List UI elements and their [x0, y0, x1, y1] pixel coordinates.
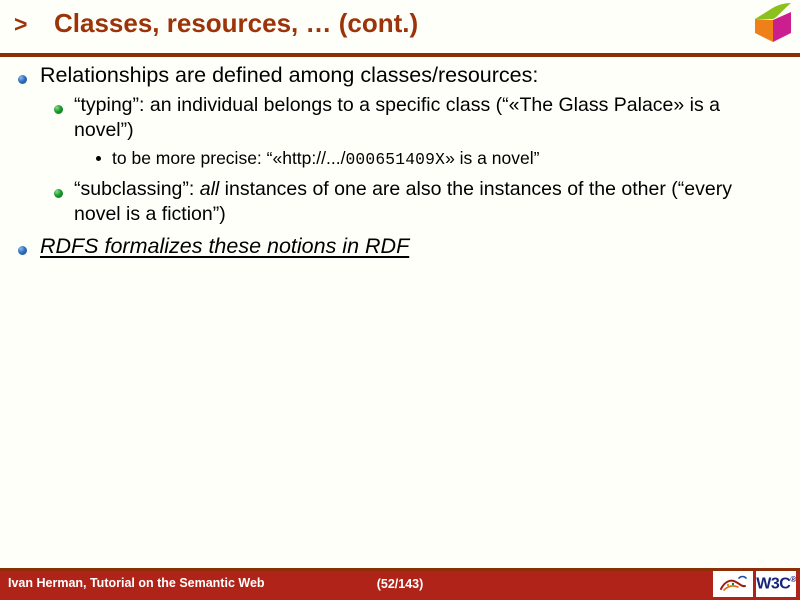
bullet-level1-rdfs: RDFS formalizes these notions in RDF [18, 233, 800, 259]
blue-sphere-bullet-icon [18, 71, 40, 89]
bullet-text: Relationships are defined among classes/… [40, 62, 800, 88]
uri-identifier-mono: 000651409X [345, 150, 445, 169]
w3c-logo-text: W3C [756, 575, 790, 592]
uri-prefix-text: to be more precise: “«http://.../ [112, 148, 345, 168]
header-divider [0, 53, 800, 57]
black-dot-bullet-icon [96, 148, 112, 166]
rdfs-emphasis-text: RDFS formalizes these notions in RDF [40, 234, 409, 258]
cube-left-face [755, 19, 773, 42]
slide-footer: Ivan Herman, Tutorial on the Semantic We… [0, 568, 800, 600]
bullet-text: “typing”: an individual belongs to a spe… [74, 93, 764, 143]
green-sphere-bullet-icon [54, 101, 74, 119]
w3c-logo: W3C® [756, 571, 796, 597]
page-title: Classes, resources, … (cont.) [54, 8, 418, 39]
bullet-level2-typing: “typing”: an individual belongs to a spe… [54, 93, 800, 143]
title-chevron-icon: > [14, 13, 27, 36]
slide-header: > Classes, resources, … (cont.) [0, 0, 800, 54]
uri-suffix-text: » is a novel” [445, 148, 539, 168]
w3c-registered-mark: ® [790, 575, 795, 584]
subclassing-prefix: “subclassing”: [74, 178, 200, 200]
bullet-level3-uri: to be more precise: “«http://.../0006514… [96, 147, 800, 171]
bullet-text: to be more precise: “«http://.../0006514… [112, 147, 800, 171]
bullet-level1-relationships: Relationships are defined among classes/… [18, 62, 800, 88]
arabic-calligraphy-logo [713, 571, 753, 597]
footer-logos: W3C® [713, 571, 796, 597]
footer-page-number: (52/143) [0, 577, 800, 591]
footer-divider [0, 568, 800, 571]
blue-sphere-bullet-icon [18, 242, 40, 260]
subclassing-emphasis: all [200, 178, 220, 200]
slide-body: Relationships are defined among classes/… [0, 62, 800, 562]
isometric-cube-logo [751, 2, 795, 46]
green-sphere-bullet-icon [54, 185, 74, 203]
bullet-level2-subclassing: “subclassing”: all instances of one are … [54, 177, 800, 227]
bullet-text: “subclassing”: all instances of one are … [74, 177, 764, 227]
